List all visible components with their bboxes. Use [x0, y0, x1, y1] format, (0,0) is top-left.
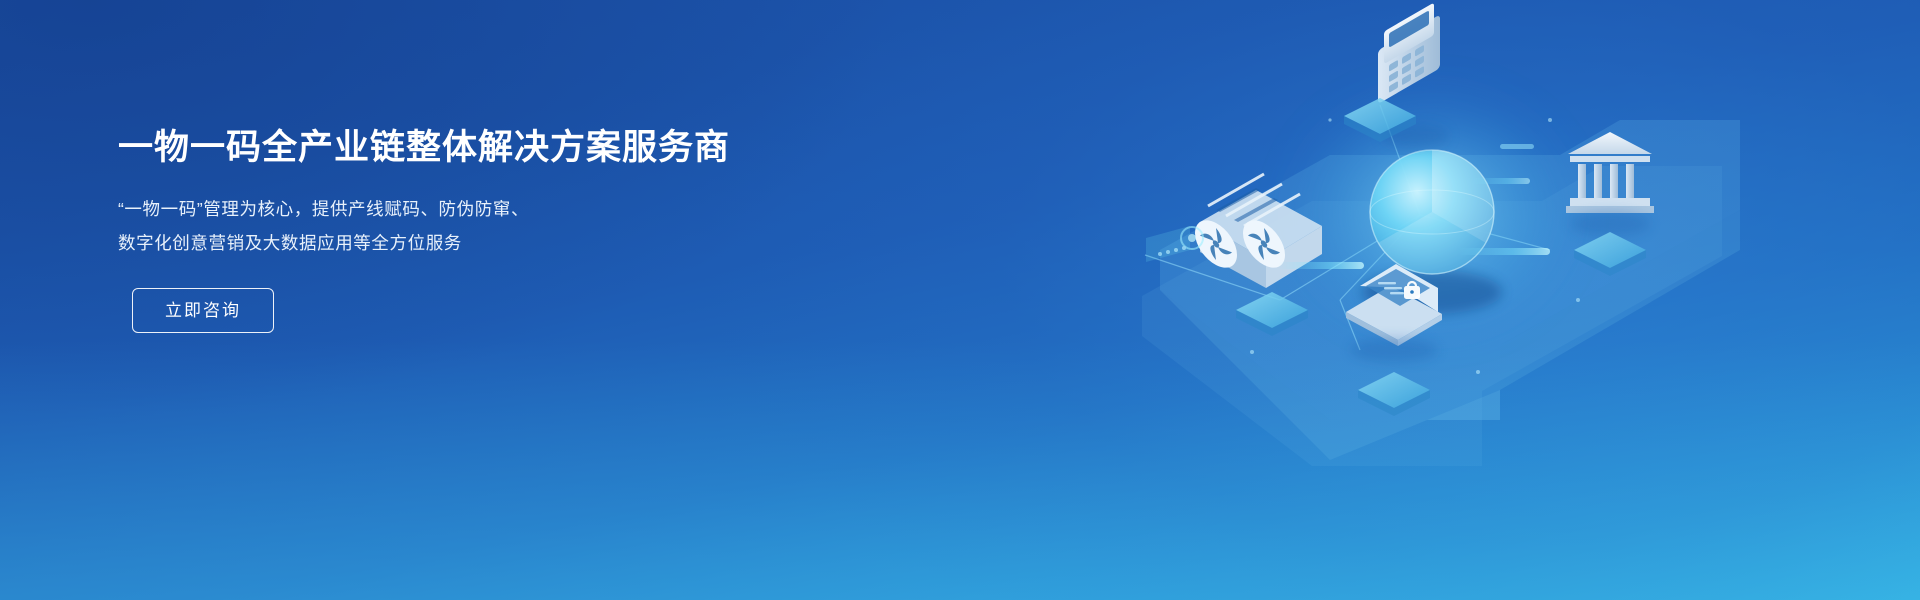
- hero-illustration: [860, 0, 1920, 600]
- hero-subtitle: “一物一码”管理为核心，提供产线赋码、防伪防窜、 数字化创意营销及大数据应用等全…: [118, 192, 818, 260]
- consult-now-button[interactable]: 立即咨询: [132, 288, 274, 333]
- hero-banner: 一物一码全产业链整体解决方案服务商 “一物一码”管理为核心，提供产线赋码、防伪防…: [0, 0, 1920, 600]
- page-title: 一物一码全产业链整体解决方案服务商: [118, 126, 818, 170]
- hero-subtitle-line-1: “一物一码”管理为核心，提供产线赋码、防伪防窜、: [118, 192, 818, 226]
- hero-copy: 一物一码全产业链整体解决方案服务商 “一物一码”管理为核心，提供产线赋码、防伪防…: [118, 126, 818, 333]
- hero-subtitle-line-2: 数字化创意营销及大数据应用等全方位服务: [118, 226, 818, 260]
